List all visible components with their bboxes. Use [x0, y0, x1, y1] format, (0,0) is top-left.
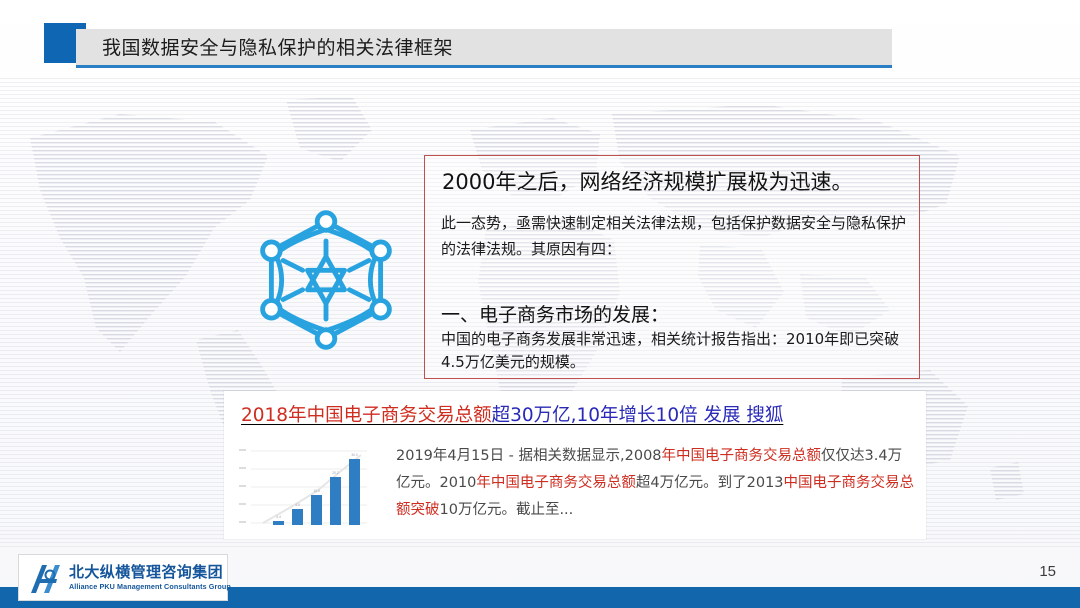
logo-chinese-name: 北大纵横管理咨询集团 [69, 563, 231, 582]
svg-text:10.0: 10.0 [313, 489, 320, 493]
thumbnail-chart-svg: 3.4 4.0 10.0 20.2 30.0 [229, 437, 371, 537]
logo-text-block: 北大纵横管理咨询集团 Alliance PKU Management Consu… [69, 563, 231, 592]
slide-canvas: 我国数据安全与隐私保护的相关法律框架 [0, 0, 1080, 608]
ecommerce-bar-chart-thumbnail: 3.4 4.0 10.0 20.2 30.0 [229, 437, 371, 537]
snippet-highlight-1: 年中国电子商务交易总额 [662, 448, 822, 464]
company-logo: 北大纵横管理咨询集团 Alliance PKU Management Consu… [18, 554, 228, 601]
snippet-tail-3: 10万亿元。截止至... [440, 502, 574, 518]
search-result-snippet: 2019年4月15日 - 据相关数据显示,2008年中国电子商务交易总额仅仅达3… [396, 443, 916, 524]
page-title: 我国数据安全与隐私保护的相关法律框架 [102, 33, 453, 60]
svg-text:3.4: 3.4 [276, 515, 281, 519]
svg-text:30.0: 30.0 [351, 453, 358, 457]
logo-mark-icon [25, 559, 65, 597]
page-number: 15 [1039, 563, 1056, 580]
svg-text:4.0: 4.0 [295, 503, 300, 507]
callout-sub-body: 中国的电子商务发展非常迅速，相关统计报告指出：2010年即已突破4.5万亿美元的… [441, 328, 911, 374]
search-result-title[interactable]: 2018年中国电子商务交易总额超30万亿,10年增长10倍 发展 搜狐 [241, 401, 783, 427]
snippet-tail-2: 超4万亿元。到了2013 [636, 475, 784, 491]
search-result-title-red: 2018年中国电子商务交易总额 [241, 405, 492, 426]
snippet-highlight-2: 年中国电子商务交易总额 [476, 475, 636, 491]
snippet-date-prefix: 2019年4月15日 - 据相关数据显示,2008 [396, 448, 662, 464]
callout-body: 此一态势，亟需快速制定相关法律法规，包括保护数据安全与隐私保护的法律法规。其原因… [441, 210, 911, 262]
callout-heading: 2000年之后，网络经济规模扩展极为迅速。 [442, 166, 852, 196]
callout-sub-heading: 一、电子商务市场的发展： [441, 300, 669, 327]
snippet-tail-1: 仅仅 [821, 448, 850, 464]
svg-text:20.2: 20.2 [332, 471, 339, 475]
network-shield-star-icon [248, 200, 404, 360]
header-underline [76, 65, 892, 68]
logo-english-name: Alliance PKU Management Consultants Grou… [69, 582, 231, 592]
search-result-title-blue: 超30万亿,10年增长10倍 发展 搜狐 [492, 405, 784, 426]
